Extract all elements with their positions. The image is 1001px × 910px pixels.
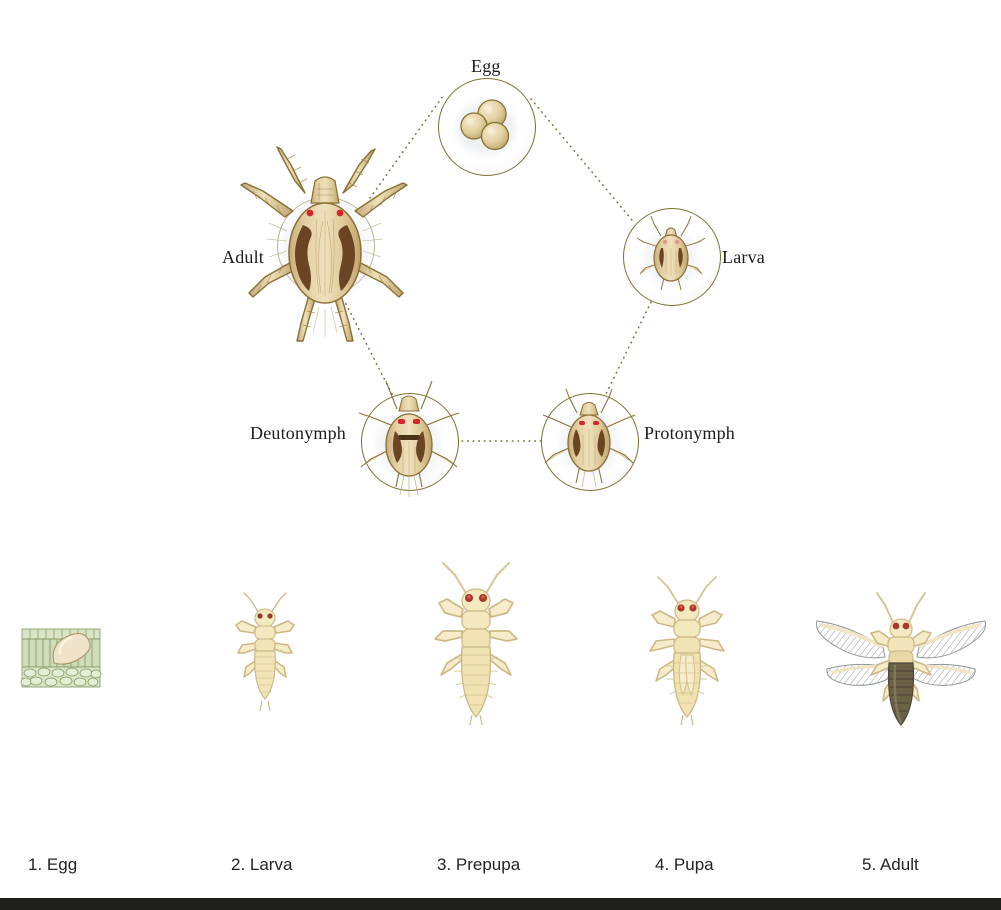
cycle-node-deutonymph[interactable] — [361, 393, 457, 489]
cycle-node-larva[interactable] — [623, 208, 719, 304]
thrips-label-prepupa: 3. Prepupa — [437, 855, 520, 875]
cycle-node-egg[interactable] — [438, 78, 534, 174]
thrips-stage-pupa[interactable]: 4. Pupa — [617, 545, 757, 845]
cycle-label-adult: Adult — [222, 247, 264, 268]
thrips-stage-prepupa[interactable]: 3. Prepupa — [406, 545, 546, 845]
egg-cluster-icon — [438, 78, 534, 174]
footer-bar — [0, 898, 1001, 910]
figure-canvas: Egg L — [0, 0, 1001, 910]
connector-larva-protonymph — [606, 302, 651, 394]
thrips-larva-icon — [232, 591, 298, 713]
thrips-label-egg: 1. Egg — [28, 855, 77, 875]
thrips-life-cycle-group: 1. Egg — [0, 545, 1001, 910]
thrips-label-adult: 5. Adult — [862, 855, 919, 875]
thrips-prepupa-icon — [431, 561, 521, 727]
thrips-pupa-icon — [646, 575, 728, 727]
cycle-label-egg: Egg — [471, 56, 501, 77]
thrips-stage-larva[interactable]: 2. Larva — [195, 545, 335, 845]
cycle-node-adult[interactable] — [277, 197, 373, 293]
thrips-label-pupa: 4. Pupa — [655, 855, 714, 875]
thrips-label-larva: 2. Larva — [231, 855, 292, 875]
thrips-stage-egg[interactable]: 1. Egg — [0, 545, 140, 845]
mite-adult-icon — [235, 145, 415, 345]
egg-in-leaf-icon — [20, 623, 104, 691]
cycle-label-protonymph: Protonymph — [644, 423, 735, 444]
thrips-adult-icon — [807, 585, 995, 735]
mite-larva-icon — [623, 208, 719, 304]
connector-egg-larva — [531, 99, 632, 220]
cycle-label-larva: Larva — [722, 247, 765, 268]
mite-deutonymph-icon — [353, 379, 465, 501]
cycle-node-protonymph[interactable] — [541, 393, 637, 489]
cycle-label-deutonymph: Deutonymph — [250, 423, 346, 444]
thrips-stage-adult[interactable]: 5. Adult — [800, 545, 1001, 845]
mite-protonymph-icon — [535, 385, 643, 497]
